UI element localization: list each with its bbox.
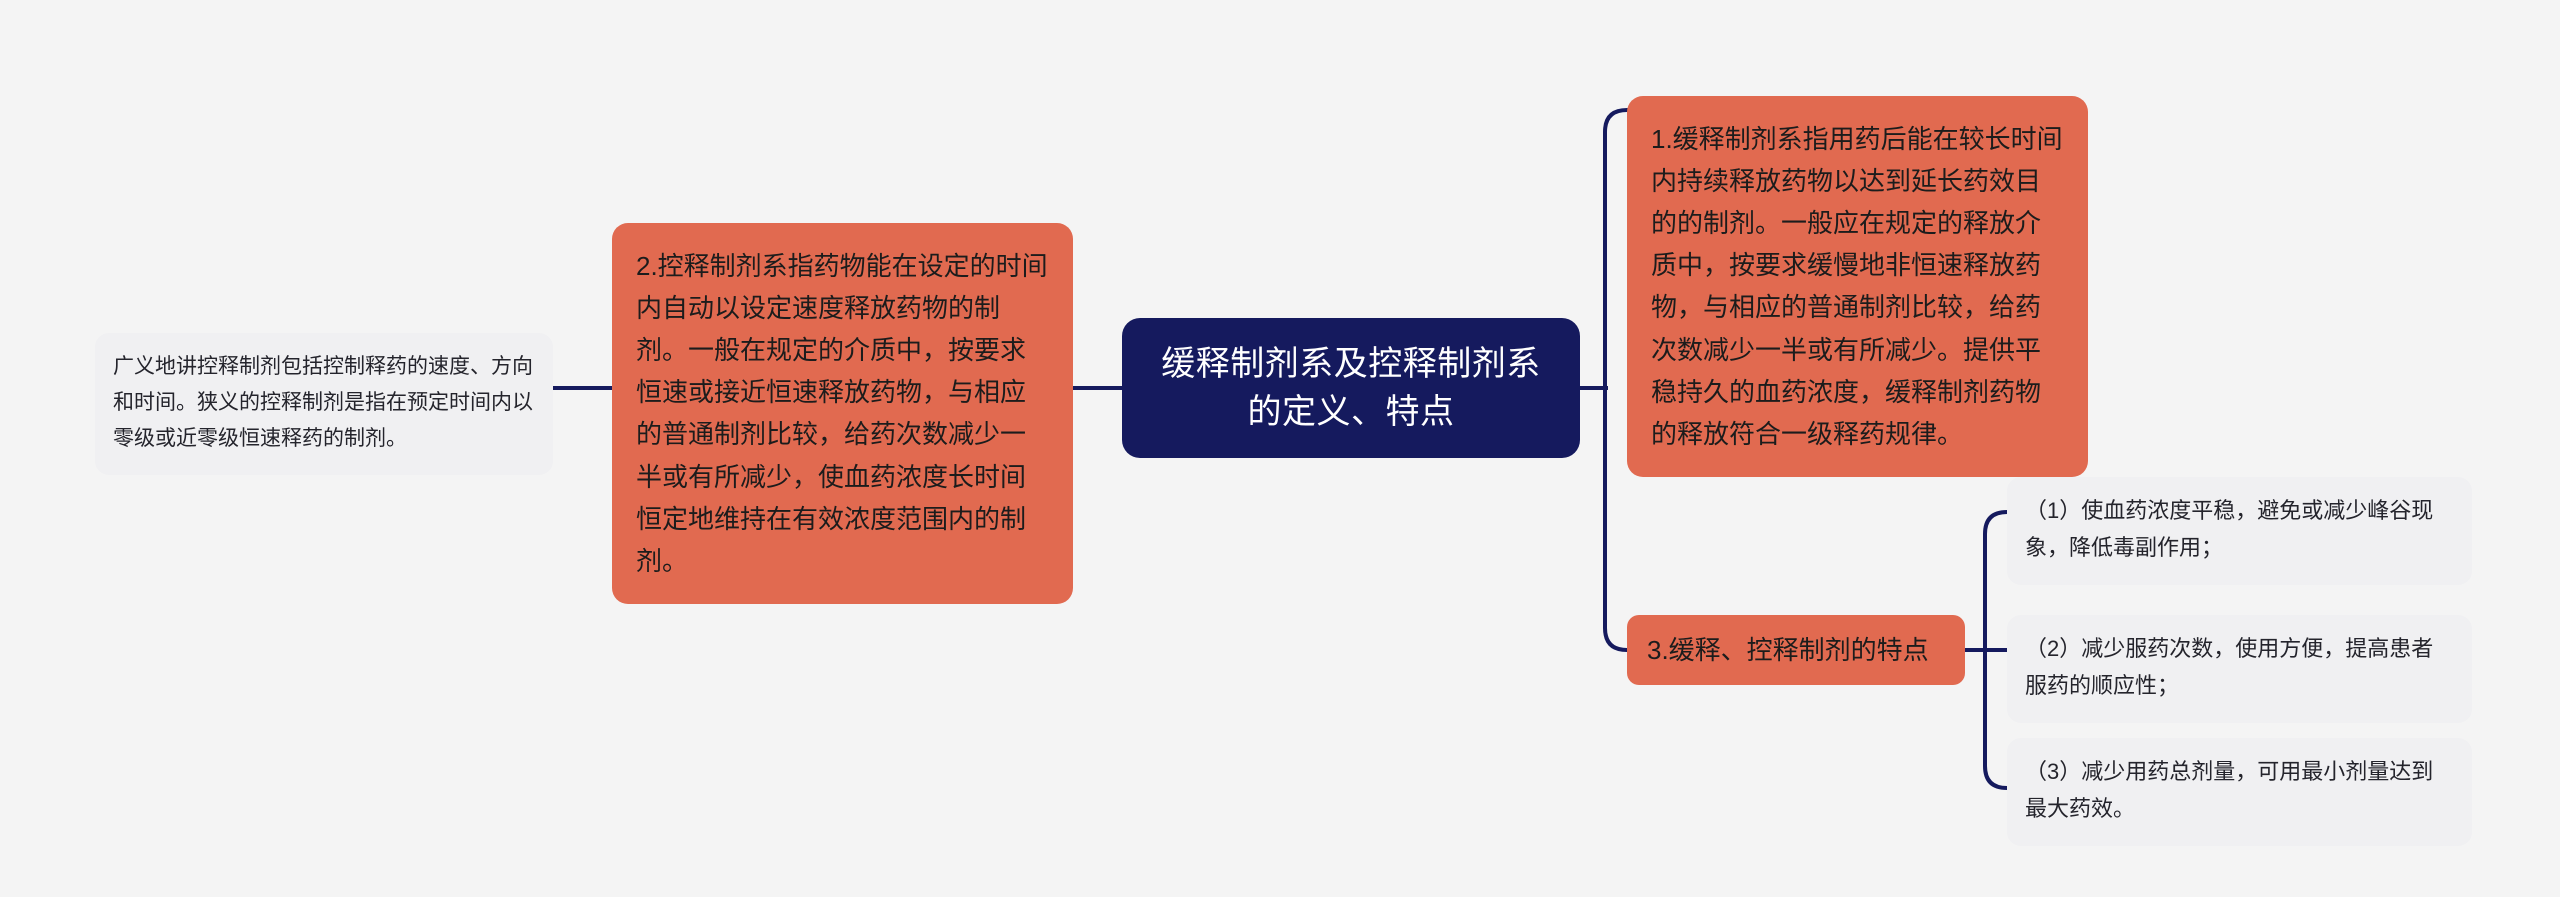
- root-node[interactable]: 缓释制剂系及控释制剂系的定义、特点: [1122, 318, 1580, 458]
- node-feature-2-label: （2）减少服药次数，使用方便，提高患者服药的顺应性；: [2025, 631, 2454, 705]
- node-feature-1[interactable]: （1）使血药浓度平稳，避免或减少峰谷现象，降低毒副作用；: [2007, 477, 2472, 585]
- node-topic-1-label: 1.缓释制剂系指用药后能在较长时间内持续释放药物以达到延长药效目的的制剂。一般应…: [1651, 118, 2064, 455]
- node-feature-2[interactable]: （2）减少服药次数，使用方便，提高患者服药的顺应性；: [2007, 615, 2472, 723]
- node-feature-1-label: （1）使血药浓度平稳，避免或减少峰谷现象，降低毒副作用；: [2025, 493, 2454, 567]
- node-topic-3-label: 3.缓释、控释制剂的特点: [1647, 631, 1929, 670]
- node-topic-2-label: 2.控释制剂系指药物能在设定的时间内自动以设定速度释放药物的制剂。一般在规定的介…: [636, 245, 1049, 582]
- node-topic-1-sustained-release[interactable]: 1.缓释制剂系指用药后能在较长时间内持续释放药物以达到延长药效目的的制剂。一般应…: [1627, 96, 2088, 477]
- node-topic-3-characteristics[interactable]: 3.缓释、控释制剂的特点: [1627, 615, 1965, 685]
- mindmap-canvas: 广义地讲控释制剂包括控制释药的速度、方向和时间。狭义的控释制剂是指在预定时间内以…: [0, 0, 2560, 897]
- root-node-label: 缓释制剂系及控释制剂系的定义、特点: [1152, 340, 1550, 437]
- node-feature-3-label: （3）减少用药总剂量，可用最小剂量达到最大药效。: [2025, 754, 2454, 828]
- node-broad-narrow-definition-label: 广义地讲控释制剂包括控制释药的速度、方向和时间。狭义的控释制剂是指在预定时间内以…: [113, 349, 535, 457]
- node-broad-narrow-definition[interactable]: 广义地讲控释制剂包括控制释药的速度、方向和时间。狭义的控释制剂是指在预定时间内以…: [95, 333, 553, 475]
- node-topic-2-controlled-release[interactable]: 2.控释制剂系指药物能在设定的时间内自动以设定速度释放药物的制剂。一般在规定的介…: [612, 223, 1073, 604]
- node-feature-3[interactable]: （3）减少用药总剂量，可用最小剂量达到最大药效。: [2007, 738, 2472, 846]
